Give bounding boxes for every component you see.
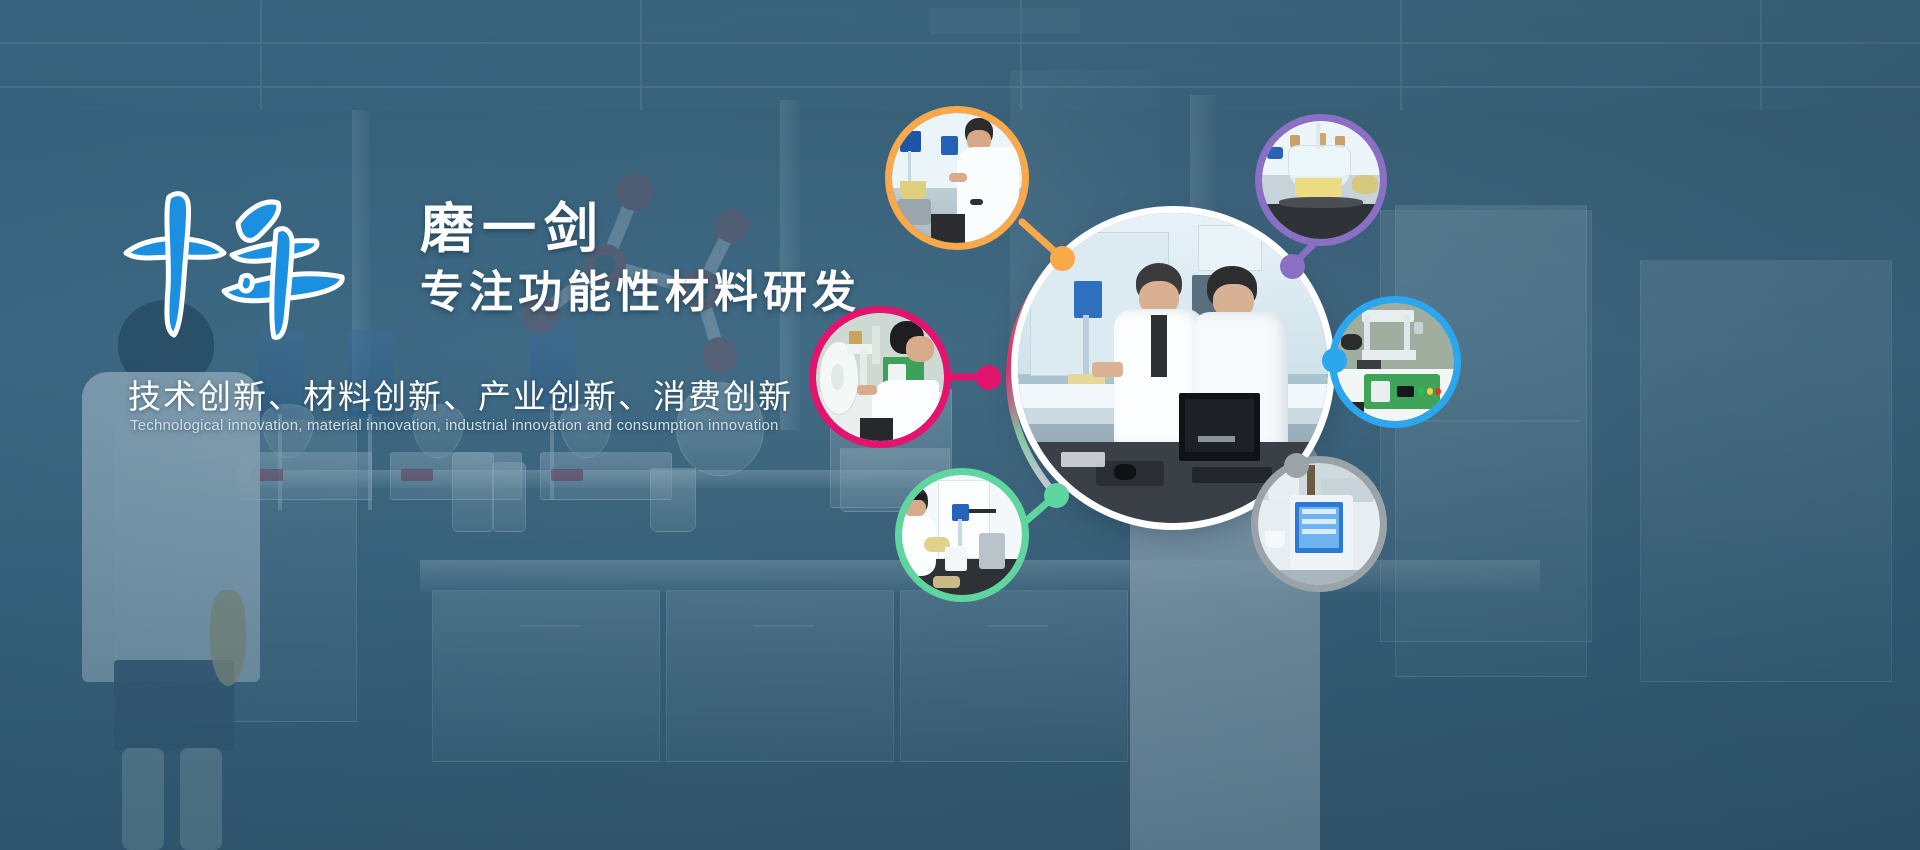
node-green <box>1044 483 1069 508</box>
headline-lines: 磨一剑 专注功能性材料研发 <box>420 199 861 321</box>
circle-mixing-workstation[interactable] <box>902 475 1022 595</box>
headline-line-2: 专注功能性材料研发 <box>420 265 861 321</box>
subtitle-chinese: 技术创新、材料创新、产业创新、消费创新 <box>128 370 793 418</box>
node-gray <box>1284 453 1309 478</box>
headline-block: 磨一剑 专注功能性材料研发 技术创新、材料创新、产业创新、消费创新 Techno… <box>120 185 880 345</box>
brush-calligraphy-shinian <box>120 181 350 341</box>
node-pink <box>976 365 1001 390</box>
circle-photo-tensile-test-machine <box>1336 303 1454 421</box>
circle-tensile-test-machine[interactable] <box>1336 303 1454 421</box>
circle-photo-reactor-operator <box>892 113 1022 243</box>
node-orange <box>1050 246 1075 271</box>
circle-photo-three-neck-flask <box>1262 121 1380 239</box>
circle-photo-mixing-workstation <box>902 475 1022 595</box>
node-blue <box>1322 348 1347 373</box>
headline-line-1: 磨一剑 <box>420 199 861 259</box>
circle-coating-machine[interactable] <box>816 313 944 441</box>
circle-analysis-instrument[interactable] <box>1258 463 1380 585</box>
circle-composition <box>810 95 1470 615</box>
banner-stage: 磨一剑 专注功能性材料研发 技术创新、材料创新、产业创新、消费创新 Techno… <box>0 0 1920 850</box>
circle-photo-coating-machine <box>816 313 944 441</box>
subtitle-english: Technological innovation, material innov… <box>130 417 779 434</box>
node-purple <box>1280 254 1305 279</box>
circle-photo-analysis-instrument <box>1258 463 1380 585</box>
circle-three-neck-flask[interactable] <box>1262 121 1380 239</box>
circle-reactor-operator[interactable] <box>892 113 1022 243</box>
